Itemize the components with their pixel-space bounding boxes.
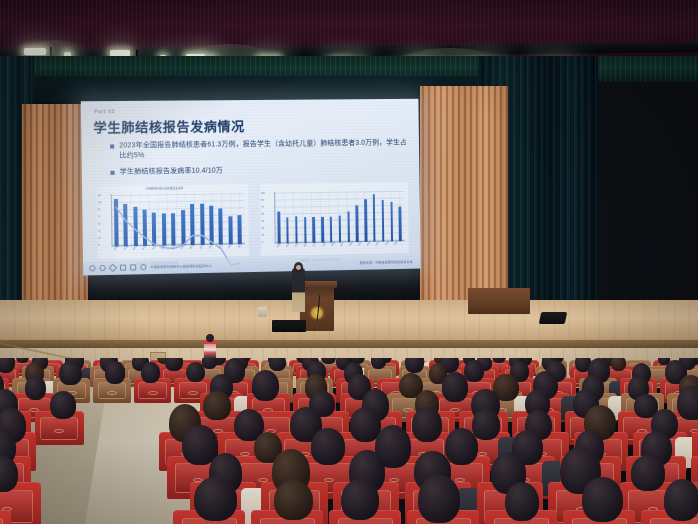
slide-part-label: Part 02 — [94, 109, 115, 115]
chart-bar — [152, 212, 157, 245]
chart-x-tick: 2021 — [376, 241, 381, 246]
chart-y-tick: 88 — [98, 208, 100, 211]
wood-slat-panel-right — [420, 86, 508, 302]
chart-y-tick: 120 — [97, 194, 101, 197]
chart-bars-right — [274, 190, 405, 244]
presenter-head — [294, 262, 303, 272]
chart-x-tick: 2020 — [209, 244, 214, 249]
chart-x-tick: 2011 — [124, 246, 129, 251]
chart-x-tick: 2017 — [181, 245, 186, 250]
projection-screen: Part 02 学生肺结核报告发病情况 2023年全国报告肺结核患者61.3万例… — [81, 99, 421, 276]
audience-member-head — [677, 386, 698, 420]
seat-emblem-icon — [188, 391, 198, 395]
chart-bar — [277, 211, 280, 243]
chart-bar — [347, 211, 350, 242]
chart-x-tick: 2020 — [367, 241, 372, 246]
chart-x-tick: 2019 — [358, 241, 363, 246]
chart-y-tick: 44 — [261, 220, 263, 223]
chart-bar — [200, 204, 205, 245]
audience-member-head — [442, 372, 468, 401]
chart-bar — [330, 217, 333, 243]
chart-bar — [295, 216, 298, 243]
wood-slat-texture — [420, 86, 508, 302]
chart-bar — [390, 202, 393, 241]
slide-bullet-item: 学生肺结核报告发病率10.4/10万 — [110, 164, 409, 178]
chart-x-tick: 2023 — [238, 244, 243, 249]
chart-x-tick: 2010 — [277, 243, 282, 248]
circle-icon[interactable] — [89, 265, 95, 271]
chart-x-tick: 2018 — [190, 244, 195, 249]
chart-x-axis-left: 2010201120122013201420152016201720182019… — [112, 245, 245, 256]
audience-seating — [0, 358, 698, 524]
chart-x-tick: 2010 — [114, 246, 119, 251]
audience-member-head — [186, 362, 205, 383]
audience-member-head — [203, 391, 230, 420]
chart-bar — [228, 216, 232, 244]
audience-member-head — [252, 370, 279, 401]
audience-member-head — [472, 409, 500, 440]
audience-member-head — [194, 477, 237, 521]
stage-floor-monitor-right — [539, 312, 568, 324]
slide-bullet-text: 学生肺结核报告发病率10.4/10万 — [120, 167, 223, 179]
chart-national-tb-cases: 全国肺结核报告发病数及发病率 2010201120122013201420152… — [96, 184, 249, 259]
chart-bar — [312, 217, 315, 243]
chart-bar — [181, 210, 186, 245]
seat-cushion — [0, 518, 3, 524]
chart-y-tick: 100 — [261, 192, 264, 195]
audience-member-head — [664, 479, 698, 521]
stage-curtain-far-right — [546, 56, 598, 338]
audience-member-head — [418, 475, 460, 523]
chart-legend-left: 全国肺结核报告发病数及发病率 — [145, 186, 183, 191]
wood-slat-texture — [22, 104, 88, 308]
chart-x-tick: 2014 — [152, 245, 157, 250]
chart-bar — [143, 210, 148, 246]
audience-member-head — [445, 428, 479, 466]
chart-bar — [238, 215, 242, 244]
chart-y-tick: 72 — [98, 215, 100, 218]
audience-member-head — [141, 362, 160, 383]
chart-x-tick: 2023 — [394, 241, 399, 246]
slide-footer-right-text: 数据来源：中国疾病预防控制信息系统 — [360, 260, 413, 265]
audience-member-head — [25, 376, 46, 400]
chart-bar — [219, 209, 224, 245]
circle-icon[interactable] — [100, 265, 106, 271]
seat-emblem-icon — [148, 391, 158, 395]
presenter-body — [292, 268, 305, 312]
slide-charts: 全国肺结核报告发病数及发病率 2010201120122013201420152… — [92, 182, 411, 259]
chart-x-tick: 2016 — [331, 242, 336, 247]
chart-x-tick: 2012 — [295, 243, 300, 248]
chart-x-tick: 2019 — [200, 244, 205, 249]
chart-bar — [338, 216, 341, 243]
audience-member-head — [405, 358, 424, 373]
chart-y-tick: 58 — [261, 213, 263, 216]
chart-bar — [114, 199, 119, 247]
chart-y-tick: 86 — [261, 199, 263, 202]
audience-member-head — [611, 358, 626, 371]
chart-x-tick: 2013 — [304, 242, 309, 247]
chart-bar — [381, 200, 384, 241]
chart-y-tick: 56 — [98, 223, 100, 226]
chart-bar — [190, 204, 195, 245]
chart-x-tick: 2015 — [322, 242, 327, 247]
chart-bar — [171, 213, 175, 245]
audience-member-head — [505, 482, 539, 522]
chart-x-axis-right: 2010201120122013201420152016201720182019… — [275, 242, 405, 252]
chart-y-tick: 104 — [98, 201, 102, 204]
audience-member-head — [341, 479, 379, 521]
chart-bar — [364, 200, 367, 242]
stage-floor-monitor — [272, 320, 306, 332]
slide-bullet-list: 2023年全国报告肺结核患者61.3万例，报告学生（含幼托儿童）肺结核患者3.0… — [110, 138, 410, 184]
chart-x-tick: 2013 — [143, 245, 148, 250]
chart-x-tick: 2021 — [219, 244, 224, 249]
chart-bars-left — [111, 192, 245, 246]
chart-bar — [321, 217, 324, 243]
chart-x-tick: 2022 — [385, 241, 390, 246]
slide-footer-left-text: 中国疾病预防控制中心结核病防治临床中心 — [150, 264, 211, 269]
audience-member-head — [582, 477, 623, 522]
chart-x-tick: 2016 — [171, 245, 176, 250]
slide-title: 学生肺结核报告发病情况 — [93, 116, 245, 137]
chart-bar — [304, 217, 307, 243]
audience-member-head — [269, 358, 286, 371]
audience-member-head — [464, 360, 484, 382]
stage-side-table — [468, 288, 530, 314]
person-head — [206, 334, 214, 342]
chart-x-tick: 2012 — [133, 246, 138, 251]
chart-bar — [123, 204, 128, 246]
chart-bar — [286, 217, 289, 243]
eraser-icon[interactable] — [130, 264, 136, 270]
chart-x-tick: 2017 — [340, 242, 345, 247]
stage-light — [24, 48, 46, 55]
chart-y-tick: 72 — [261, 206, 263, 209]
highlighter-icon[interactable] — [120, 265, 126, 271]
audience-member-head — [50, 391, 77, 418]
audience-member-head — [412, 407, 442, 442]
audience-seat — [0, 510, 11, 524]
chart-y-tick: 40 — [98, 230, 100, 233]
audience-member-head — [59, 361, 82, 386]
chart-y-tick: 24 — [98, 237, 100, 240]
chart-bar — [373, 194, 376, 241]
chart-student-tb-cases: 2010201120122013201420152016201720182019… — [260, 182, 409, 256]
chart-y-tick: 2 — [262, 241, 263, 244]
chart-y-tick: 16 — [262, 234, 264, 237]
seat-emblem-icon — [107, 391, 117, 395]
chart-bar — [356, 205, 359, 242]
pen-icon[interactable] — [108, 264, 117, 273]
chart-y-tick: 8 — [98, 244, 99, 247]
audience-member-head — [631, 455, 666, 491]
chart-bar — [133, 207, 138, 246]
stage-small-prop — [258, 307, 267, 317]
slide-bullet-text: 2023年全国报告肺结核患者61.3万例，报告学生（含幼托儿童）肺结核患者3.0… — [119, 138, 409, 162]
chart-x-tick: 2014 — [313, 242, 318, 247]
chart-x-tick: 2015 — [162, 245, 167, 250]
chart-x-tick: 2018 — [349, 242, 354, 247]
audience-member-head — [274, 480, 313, 520]
audience-member-head — [311, 428, 346, 465]
bullet-square-icon — [110, 171, 114, 175]
bullet-square-icon — [110, 144, 114, 148]
auditorium-scene: Part 02 学生肺结核报告发病情况 2023年全国报告肺结核患者61.3万例… — [0, 0, 698, 524]
wood-slat-panel-left — [22, 104, 88, 308]
seat-emblem-icon — [54, 429, 64, 433]
chart-x-tick: 2011 — [286, 243, 291, 248]
light-stem — [50, 47, 52, 56]
chart-y-tick: 30 — [262, 227, 264, 230]
chart-bar — [162, 213, 167, 245]
chart-bar — [399, 206, 402, 241]
chart-bar — [209, 206, 214, 245]
presenter-face — [296, 265, 301, 270]
laser-pointer-icon[interactable] — [140, 264, 146, 270]
chart-x-tick: 2022 — [228, 244, 233, 249]
slide-bullet-item: 2023年全国报告肺结核患者61.3万例，报告学生（含幼托儿童）肺结核患者3.0… — [110, 138, 409, 162]
audience-member-head — [105, 361, 125, 384]
